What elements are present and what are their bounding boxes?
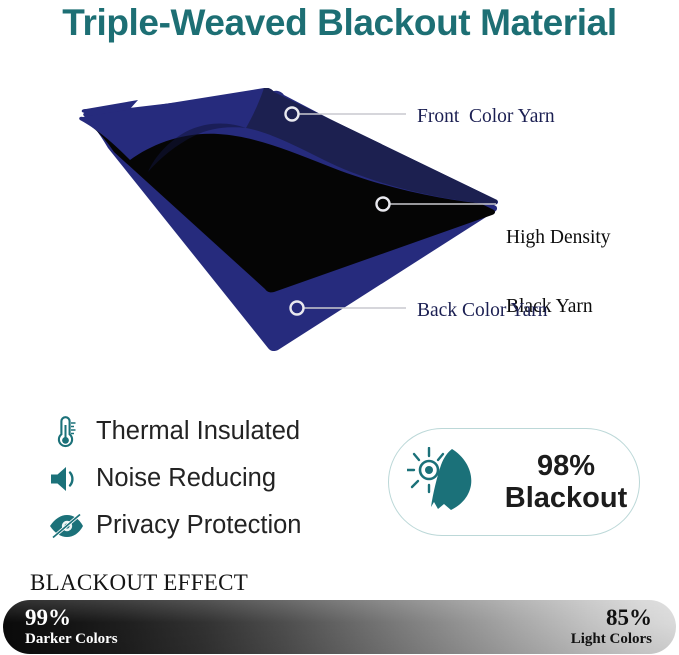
feature-label-noise-reducing: Noise Reducing xyxy=(96,464,276,493)
feature-list: Thermal Insulated Noise Reducing Privacy… xyxy=(44,408,374,549)
darker-colors-stat: 99% Darker Colors xyxy=(25,600,118,654)
feature-item-noise-reducing: Noise Reducing xyxy=(44,455,374,502)
feature-item-thermal-insulated: Thermal Insulated xyxy=(44,408,374,455)
eye-slash-icon xyxy=(44,507,88,545)
callout-label-back-color-yarn: Back Color Yarn xyxy=(417,299,548,322)
darker-colors-value: 99% xyxy=(25,606,71,630)
callout-label-front-color-yarn: Front Color Yarn xyxy=(417,105,555,128)
light-colors-stat: 85% Light Colors xyxy=(571,600,652,654)
darker-colors-caption: Darker Colors xyxy=(25,630,118,648)
feature-label-thermal-insulated: Thermal Insulated xyxy=(96,417,300,446)
feature-item-privacy-protection: Privacy Protection xyxy=(44,502,374,549)
callout-label-line-1: High Density xyxy=(506,226,611,249)
blackout-percent-value: 98% xyxy=(537,450,595,482)
speaker-sound-icon xyxy=(44,460,88,498)
blackout-label: Blackout xyxy=(505,482,627,514)
light-colors-value: 85% xyxy=(606,606,652,630)
sun-blocked-by-curtain-icon xyxy=(405,446,487,518)
feature-label-privacy-protection: Privacy Protection xyxy=(96,511,302,540)
thermometer-icon xyxy=(44,413,88,451)
blackout-badge: 98% Blackout xyxy=(388,428,640,536)
page-title: Triple-Weaved Blackout Material xyxy=(0,2,679,44)
blackout-badge-text: 98% Blackout xyxy=(493,450,639,515)
blackout-effect-gradient-bar: 99% Darker Colors 85% Light Colors xyxy=(3,600,676,654)
light-colors-caption: Light Colors xyxy=(571,630,652,648)
blackout-effect-heading: BLACKOUT EFFECT xyxy=(30,570,248,596)
